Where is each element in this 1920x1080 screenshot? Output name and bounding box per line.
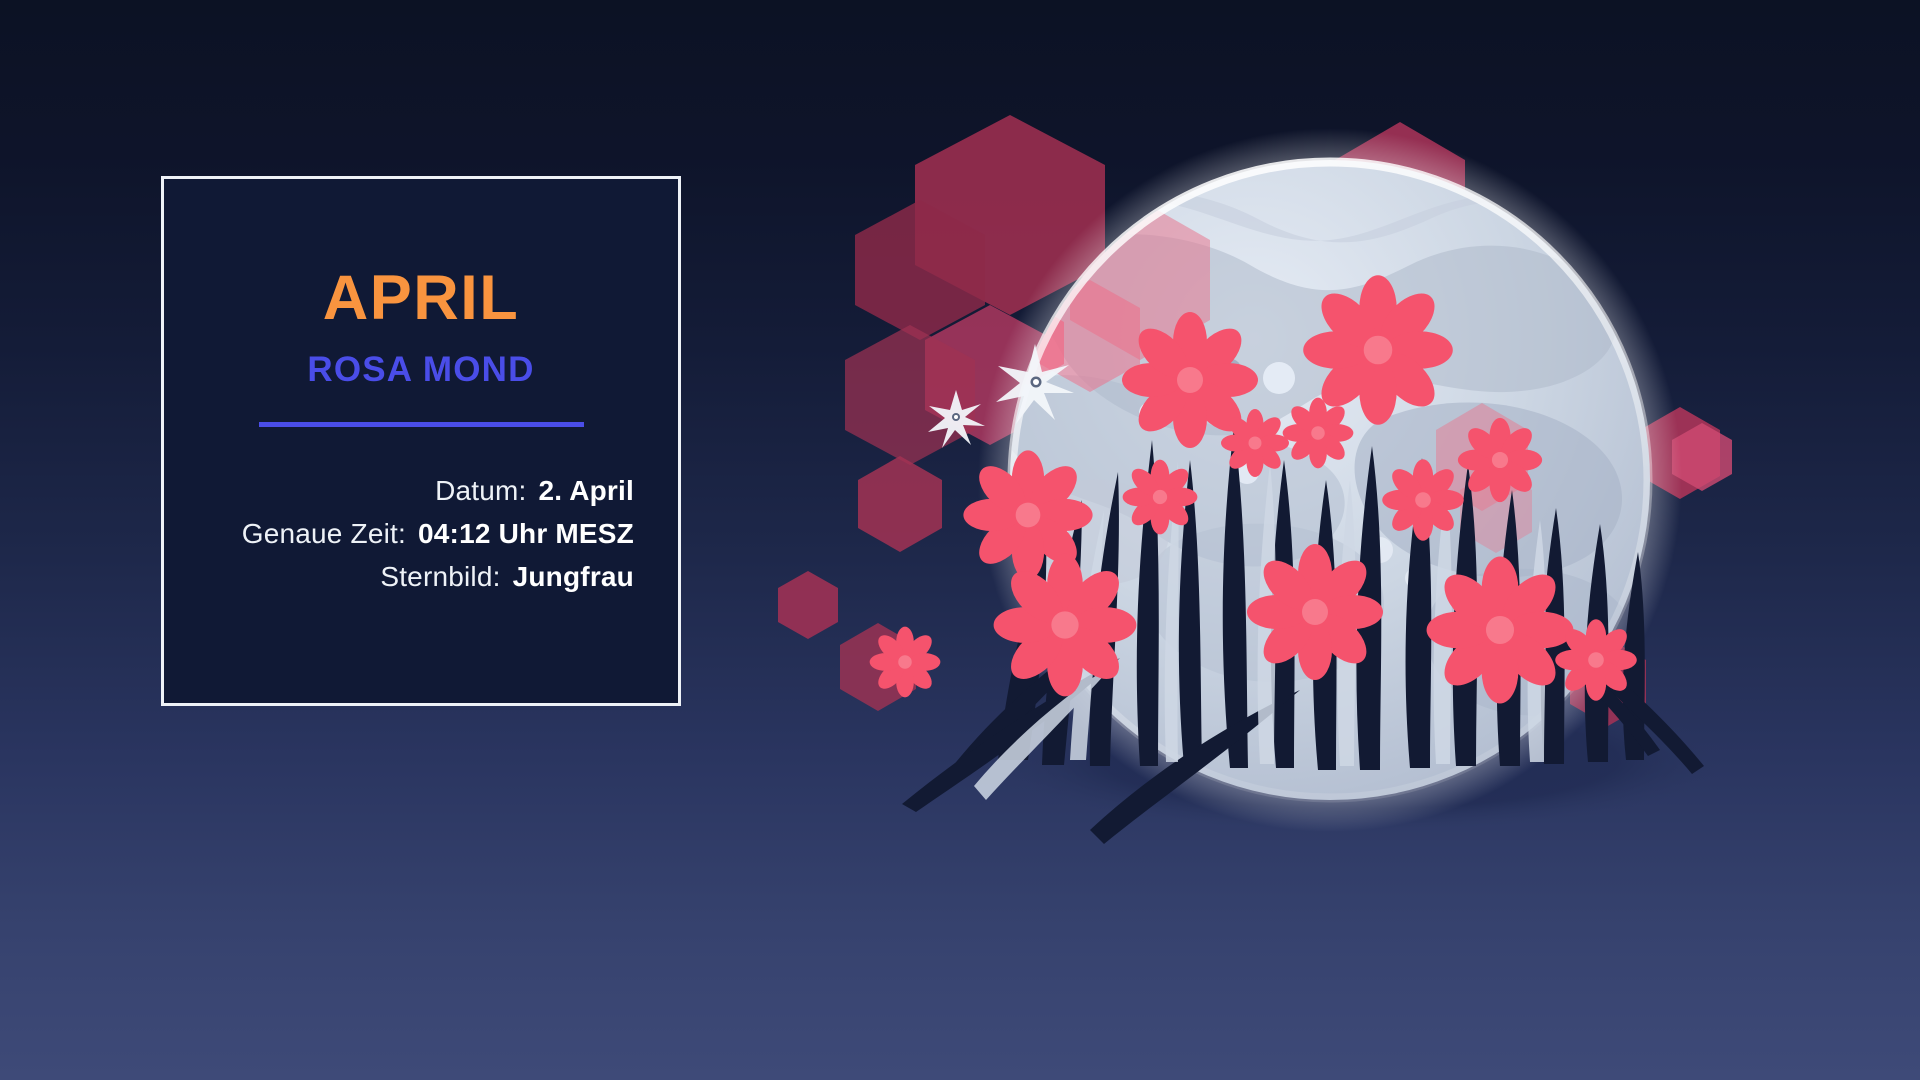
page-title: APRIL <box>323 267 520 330</box>
info-panel: APRIL ROSA MOND Datum: 2. April Genaue Z… <box>161 176 681 706</box>
fact-label-sternbild: Sternbild: <box>380 561 500 593</box>
fact-label-genaue-zeit: Genaue Zeit: <box>242 518 406 550</box>
flower <box>870 627 941 698</box>
flower <box>1221 409 1289 477</box>
flower <box>994 554 1137 697</box>
flower <box>1458 418 1542 502</box>
title-divider <box>259 422 584 427</box>
flower <box>1283 398 1354 469</box>
moon-name-subtitle: ROSA MOND <box>307 352 534 387</box>
fact-row-sternbild: Sternbild: Jungfrau <box>164 561 634 593</box>
flower <box>1382 459 1464 541</box>
flower <box>1247 544 1383 680</box>
flower <box>1555 619 1637 701</box>
flower <box>1427 557 1574 704</box>
flower <box>1123 460 1198 535</box>
moon-illustration <box>760 60 1920 1080</box>
fact-value-datum: 2. April <box>539 475 634 507</box>
fact-row-datum: Datum: 2. April <box>164 475 634 507</box>
fact-row-genaue-zeit: Genaue Zeit: 04:12 Uhr MESZ <box>164 518 634 550</box>
fact-list: Datum: 2. April Genaue Zeit: 04:12 Uhr M… <box>164 475 678 594</box>
poster-canvas: APRIL ROSA MOND Datum: 2. April Genaue Z… <box>0 0 1920 1080</box>
fact-label-datum: Datum: <box>435 475 526 507</box>
crater-dot <box>1263 362 1295 394</box>
fact-value-sternbild: Jungfrau <box>513 561 634 593</box>
fact-value-genaue-zeit: 04:12 Uhr MESZ <box>418 518 634 550</box>
flower <box>1303 275 1453 425</box>
